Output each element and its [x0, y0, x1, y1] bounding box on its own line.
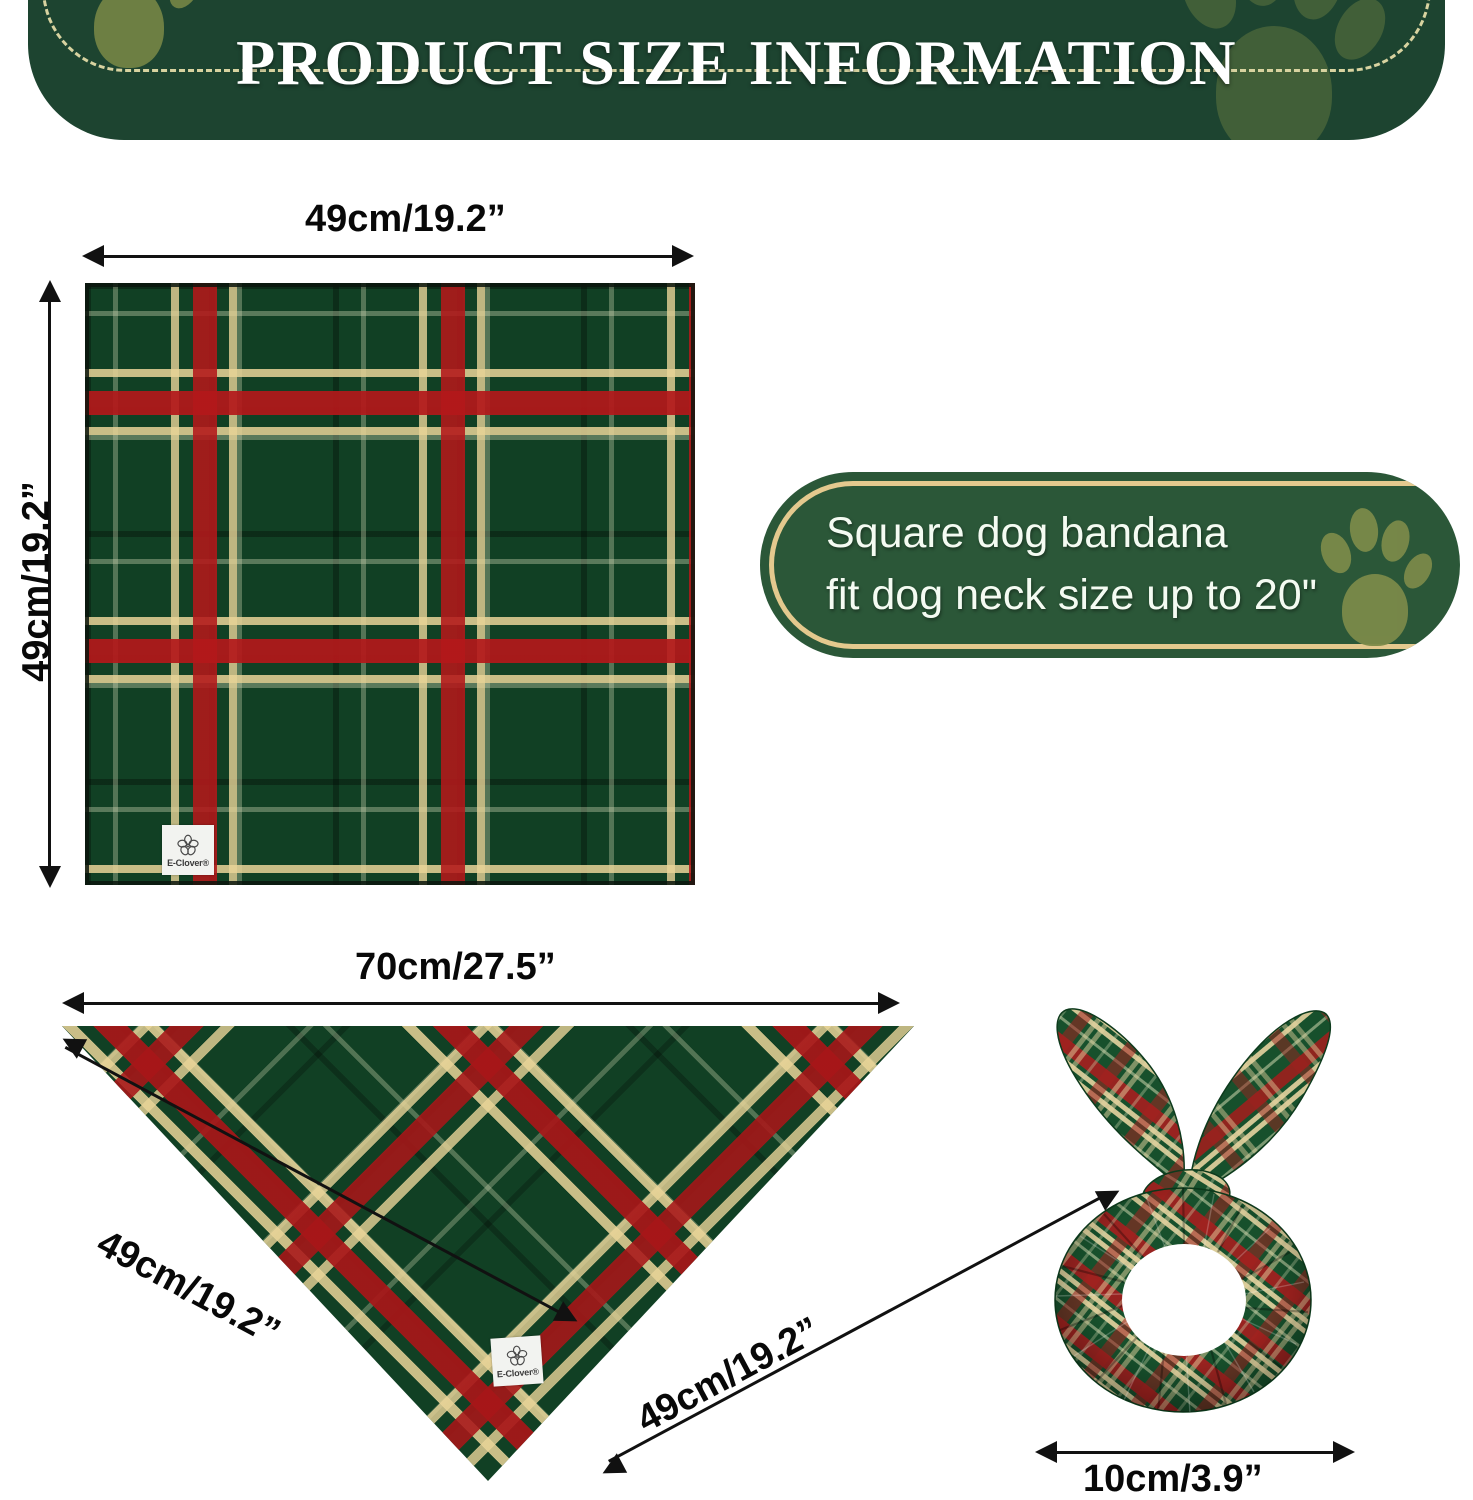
arrow-left-icon	[597, 1453, 627, 1483]
callout-line-2: fit dog neck size up to 20"	[826, 564, 1317, 626]
triangle-bandana-image	[62, 1026, 914, 1481]
square-width-dimension-line	[100, 255, 676, 258]
scrunchie-ear-right	[1190, 1011, 1330, 1190]
arrow-left-icon	[82, 245, 104, 267]
arrow-left-icon	[1035, 1441, 1057, 1463]
callout-square-bandana: Square dog bandana fit dog neck size up …	[760, 472, 1460, 658]
arrow-left-icon	[62, 992, 84, 1014]
scrunchie-graphic	[1018, 1000, 1348, 1420]
arrow-right-icon	[878, 992, 900, 1014]
arrow-right-icon	[672, 245, 694, 267]
callout-line-1: Square dog bandana	[826, 502, 1228, 564]
brand-tag: E-Clover®	[490, 1335, 543, 1386]
scrunchie-ear-left	[1057, 1009, 1184, 1182]
clover-logo-icon	[503, 1343, 530, 1370]
scrunchie-width-dimension-line	[1055, 1451, 1337, 1454]
arrow-right-icon	[1333, 1441, 1355, 1463]
brand-name: E-Clover®	[167, 859, 209, 868]
scrunchie-image	[1018, 1000, 1348, 1420]
triangle-left-label: 49cm/19.2”	[90, 1222, 287, 1355]
square-bandana-image: E-Clover®	[85, 283, 695, 885]
brand-name: E-Clover®	[497, 1368, 539, 1380]
paw-print-icon	[1316, 508, 1436, 640]
triangle-top-dimension-line	[82, 1002, 882, 1005]
brand-tag: E-Clover®	[162, 825, 214, 875]
header-banner: PRODUCT SIZE INFORMATION	[28, 0, 1445, 140]
clover-logo-icon	[175, 833, 201, 859]
triangle-right-label: 49cm/19.2”	[630, 1309, 827, 1442]
square-height-label: 49cm/19.2”	[16, 442, 59, 722]
arrow-up-icon	[39, 280, 61, 302]
scrunchie-ring	[1055, 1188, 1311, 1414]
page-title: PRODUCT SIZE INFORMATION	[28, 0, 1445, 140]
arrow-down-icon	[39, 866, 61, 888]
product-size-infographic: PRODUCT SIZE INFORMATION 49cm/19.2” 49cm…	[0, 0, 1473, 1500]
square-width-label: 49cm/19.2”	[305, 198, 506, 241]
triangle-top-label: 70cm/27.5”	[355, 946, 556, 989]
scrunchie-width-label: 10cm/3.9”	[1083, 1458, 1263, 1500]
